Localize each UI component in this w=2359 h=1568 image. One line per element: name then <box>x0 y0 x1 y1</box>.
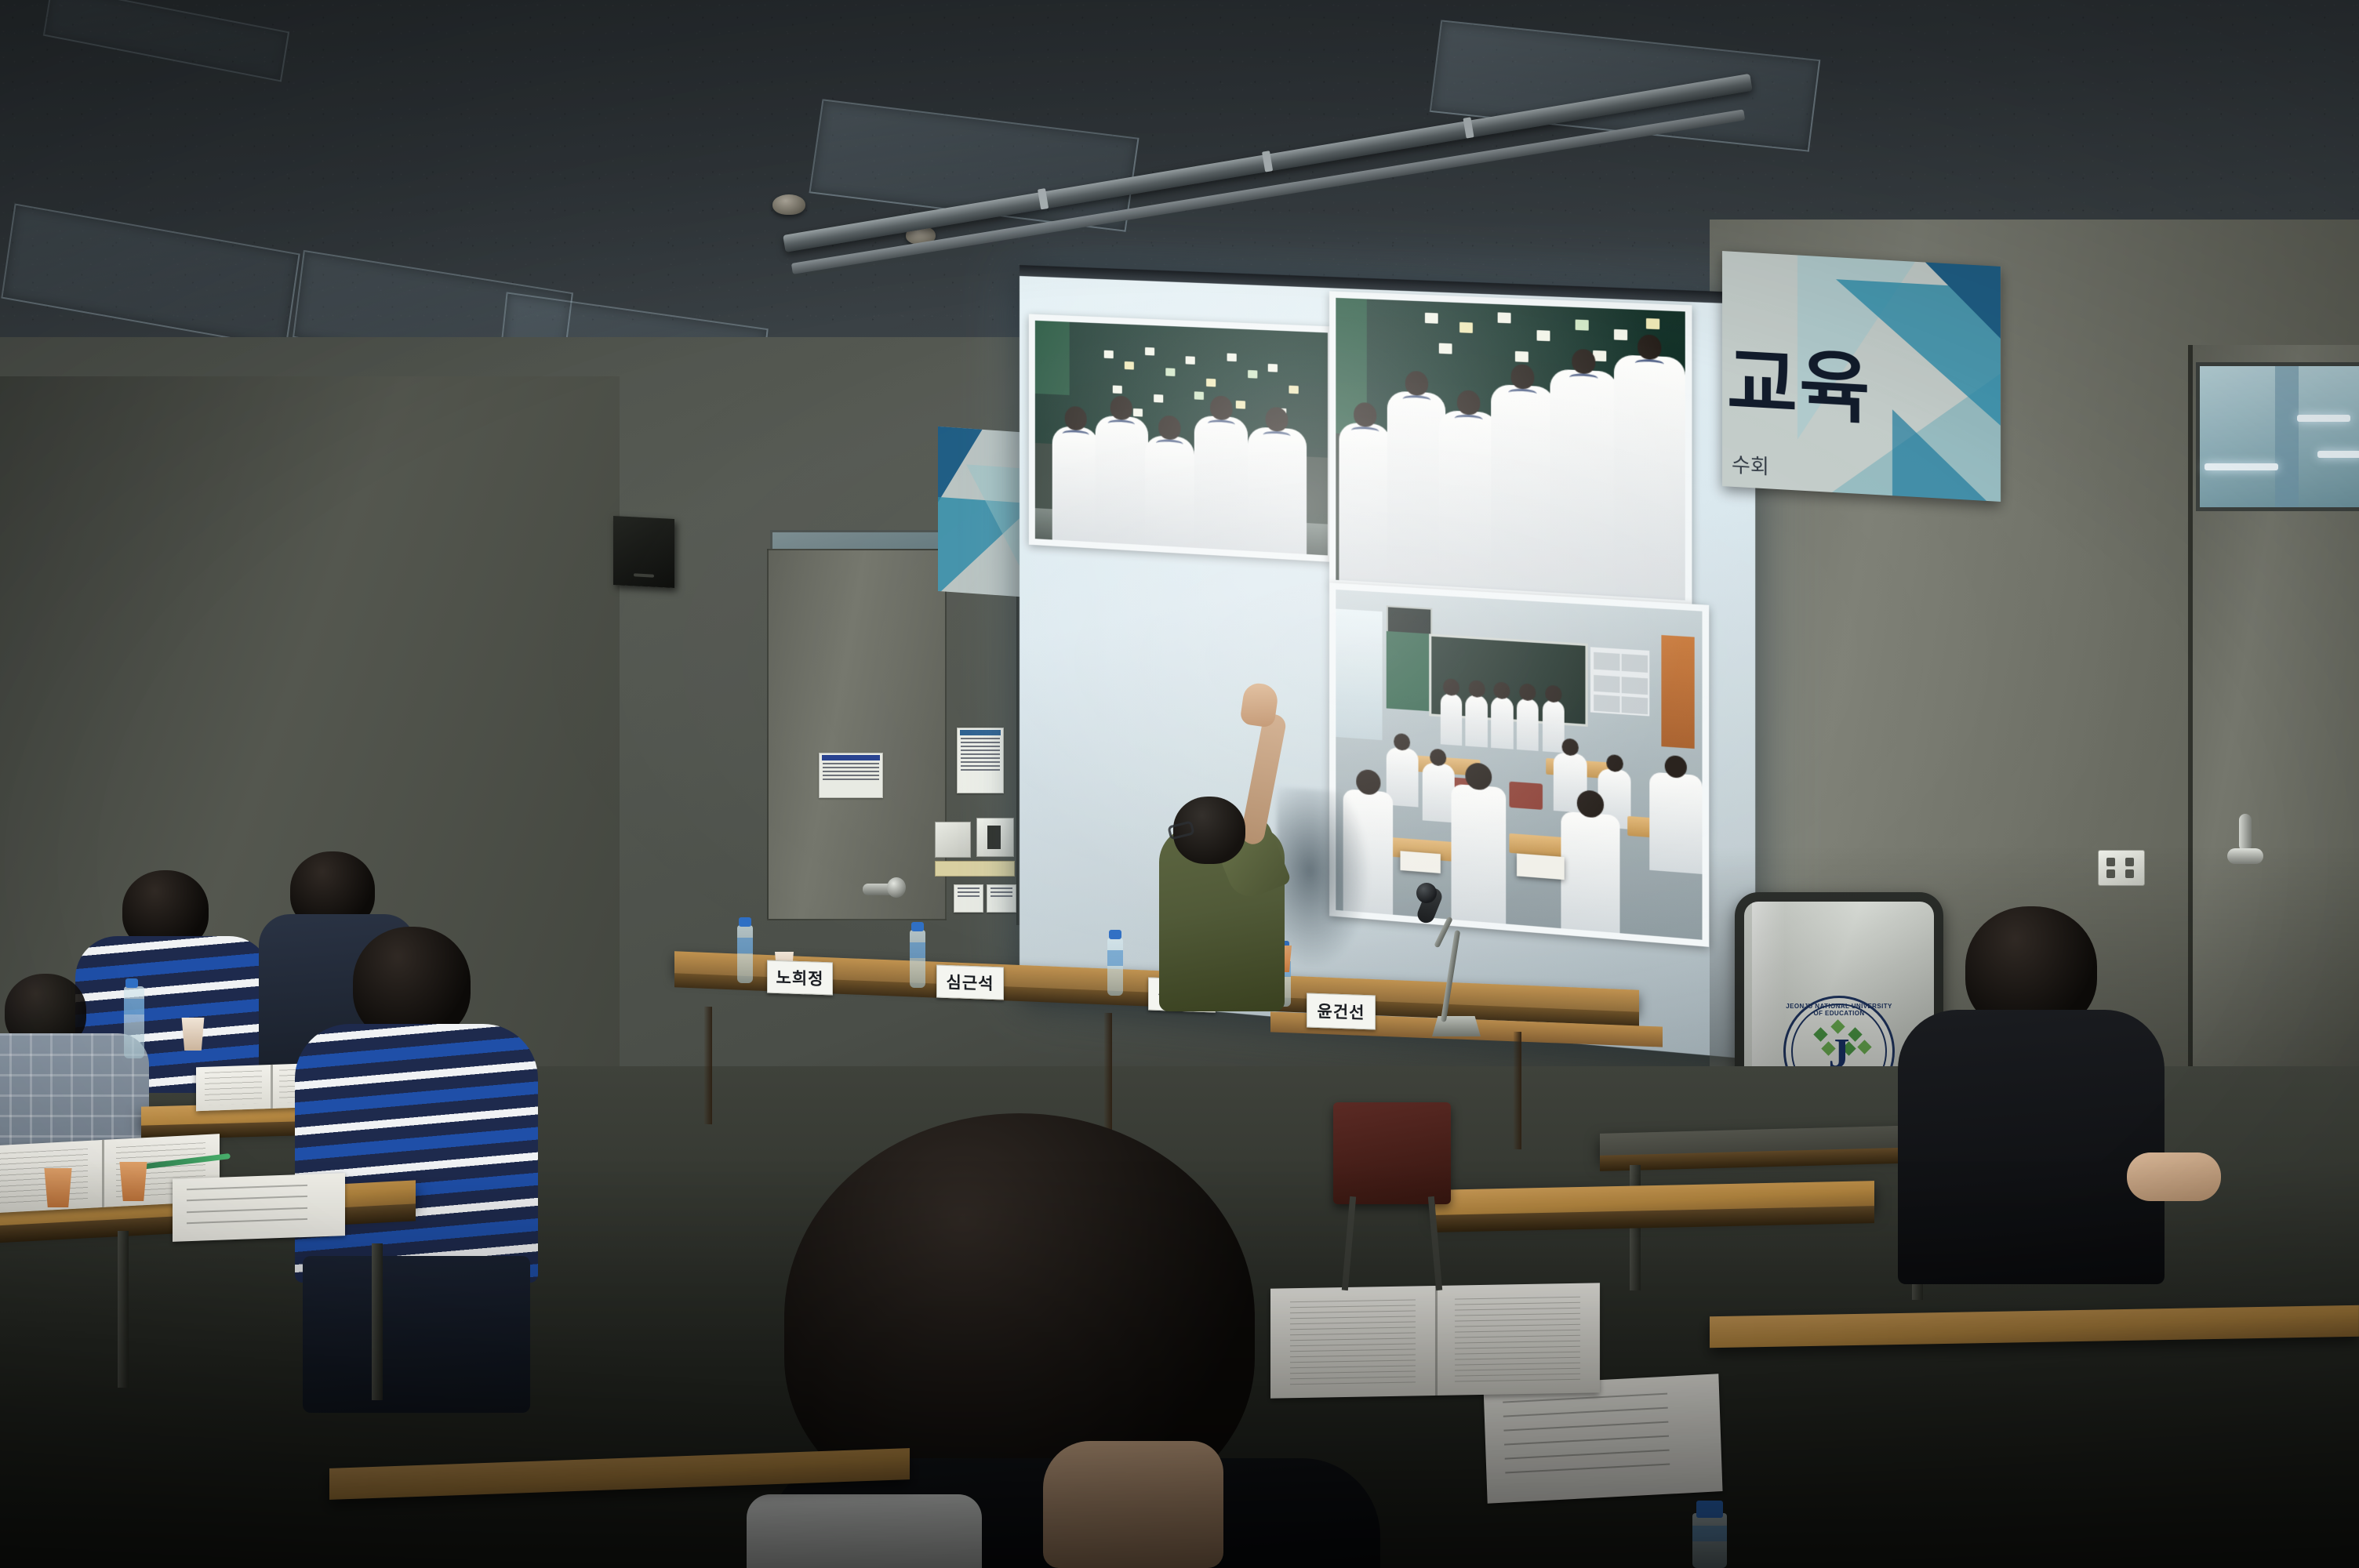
right-door-window <box>2196 362 2359 511</box>
attendee-striped-shirt <box>295 927 538 1334</box>
chair <box>1333 1102 1451 1204</box>
foreground-attendee-hand <box>1043 1441 1223 1568</box>
microphone-icon <box>1416 883 1437 903</box>
nameplate: 노희정 <box>767 960 833 996</box>
attendee-hand <box>2127 1152 2221 1201</box>
banner-subtitle: 수회 <box>1732 449 1769 481</box>
nameplate: 윤건선 <box>1307 993 1376 1029</box>
water-bottle <box>1107 938 1123 996</box>
event-banner: 교육 수회 <box>1722 251 2001 502</box>
projected-slide <box>1020 276 1755 1059</box>
wall-control-panel[interactable] <box>976 818 1014 857</box>
slide-photo-classroom-wide <box>1329 583 1709 947</box>
right-door-handle[interactable] <box>2239 814 2252 851</box>
water-bottle <box>910 930 925 988</box>
light-switch-plate[interactable] <box>935 822 971 858</box>
small-notice <box>987 884 1016 913</box>
presenter <box>1154 751 1292 1010</box>
slide-photo-blackboard <box>1029 314 1334 562</box>
smoke-detector-icon <box>772 194 805 215</box>
handout-paper <box>173 1173 345 1242</box>
water-bottle <box>1692 1513 1727 1568</box>
water-bottle <box>737 925 753 983</box>
projection-screen <box>1020 265 1755 1059</box>
classroom-door[interactable] <box>767 549 947 920</box>
attendee-black-shirt <box>1898 906 2165 1345</box>
wall-notice <box>957 728 1004 793</box>
foreground-attendee-collar <box>747 1494 982 1568</box>
classroom-scene: 교육 수회 JEONJU NATIONAL UNIVERSITY OF EDUC… <box>0 0 2359 1568</box>
door-knob-icon[interactable] <box>887 877 906 898</box>
water-bottle <box>124 986 144 1058</box>
small-notice <box>954 884 983 913</box>
banner-left-edge <box>938 426 1030 597</box>
warning-tag <box>935 861 1015 877</box>
microphone-base <box>1432 1016 1481 1036</box>
wall-speaker <box>613 516 674 588</box>
banner-title: 교육 <box>1727 343 1871 428</box>
nameplate: 심근석 <box>936 964 1004 1000</box>
door-notice <box>819 753 883 798</box>
slide-photo-sticky-notes <box>1329 291 1692 607</box>
